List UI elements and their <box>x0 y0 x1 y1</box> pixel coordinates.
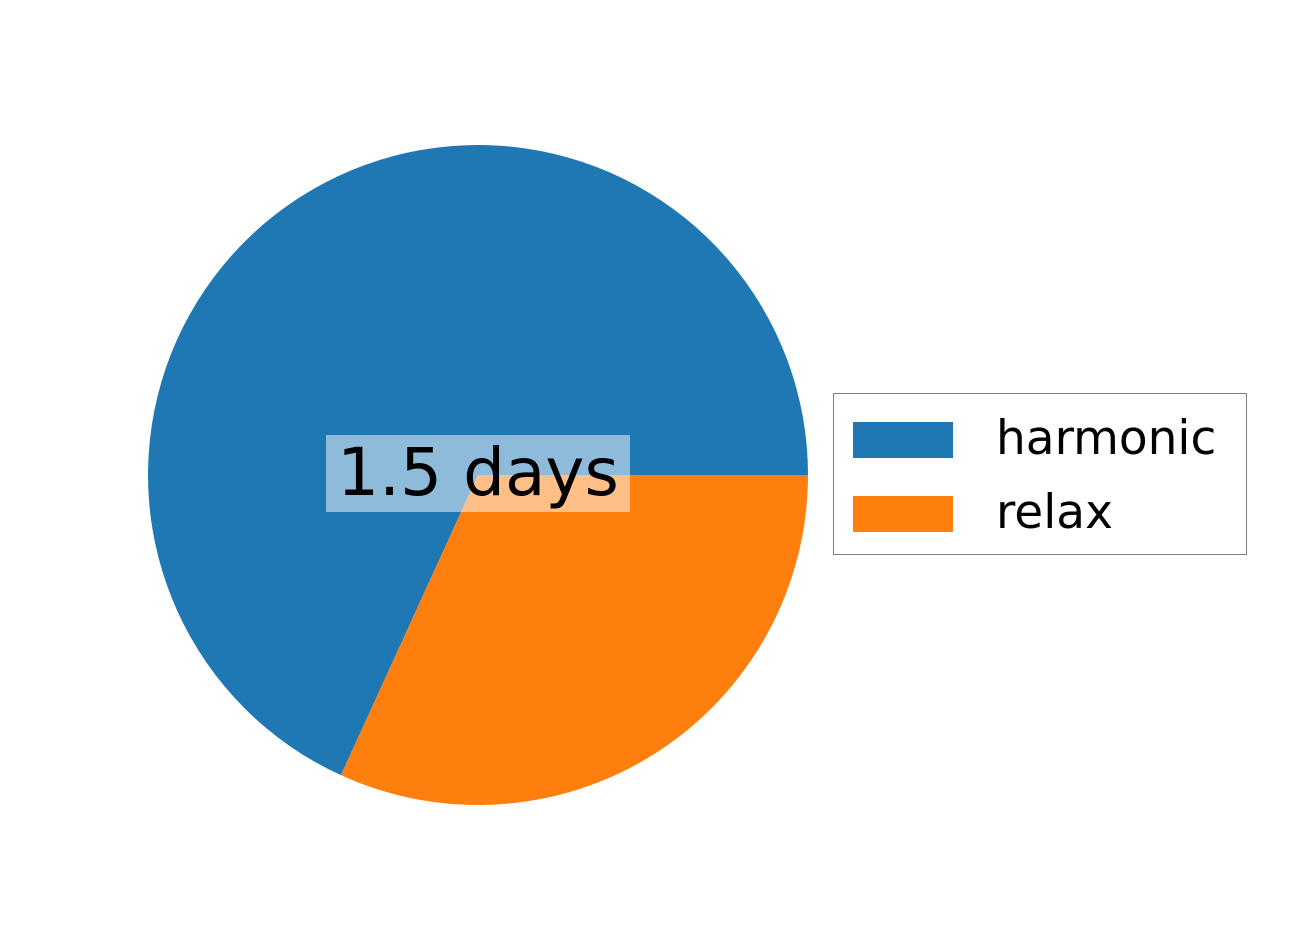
legend-label-relax: relax <box>996 489 1113 536</box>
legend-swatch-harmonic <box>853 422 953 458</box>
legend-swatch-relax <box>853 496 953 532</box>
pie-chart-figure: 1.5 days harmonic relax <box>0 0 1307 951</box>
pie-slice-value-text: 1.5 days <box>337 440 619 506</box>
legend-label-harmonic: harmonic <box>996 415 1216 462</box>
pie-slice-value-label: 1.5 days <box>326 435 630 512</box>
legend-item-harmonic[interactable]: harmonic <box>834 412 1246 468</box>
legend-item-relax[interactable]: relax <box>834 486 1246 542</box>
legend: harmonic relax <box>833 393 1247 555</box>
